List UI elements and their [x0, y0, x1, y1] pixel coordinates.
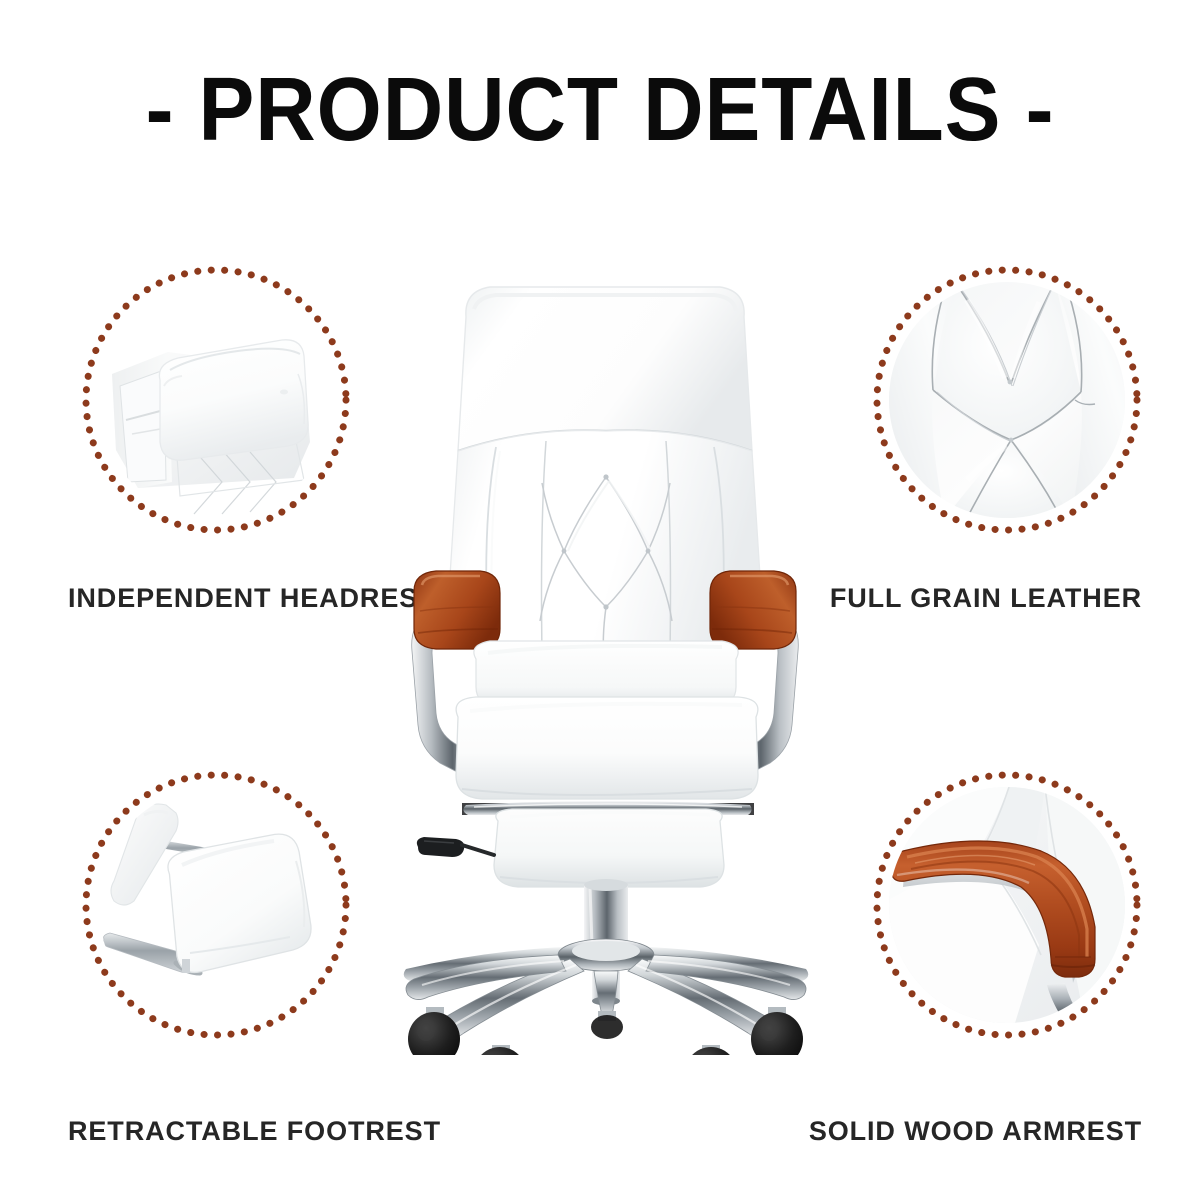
feature-circle-footrest: [82, 771, 350, 1039]
feature-circle-leather: [873, 266, 1141, 534]
dotted-ring-leather: [873, 266, 1141, 534]
feature-label-leather: FULL GRAIN LEATHER: [830, 583, 1142, 614]
page-title: - PRODUCT DETAILS -: [42, 62, 1158, 159]
feature-circle-headrest: [82, 266, 350, 534]
product-image-office-chair: [370, 255, 840, 1055]
feature-circle-armrest: [873, 771, 1141, 1039]
feature-label-armrest: SOLID WOOD ARMREST: [809, 1116, 1142, 1147]
feature-label-footrest: RETRACTABLE FOOTREST: [68, 1116, 441, 1147]
product-details-infographic: - PRODUCT DETAILS -: [0, 0, 1200, 1200]
dotted-ring-headrest: [82, 266, 350, 534]
dotted-ring-footrest: [82, 771, 350, 1039]
dotted-ring-armrest: [873, 771, 1141, 1039]
